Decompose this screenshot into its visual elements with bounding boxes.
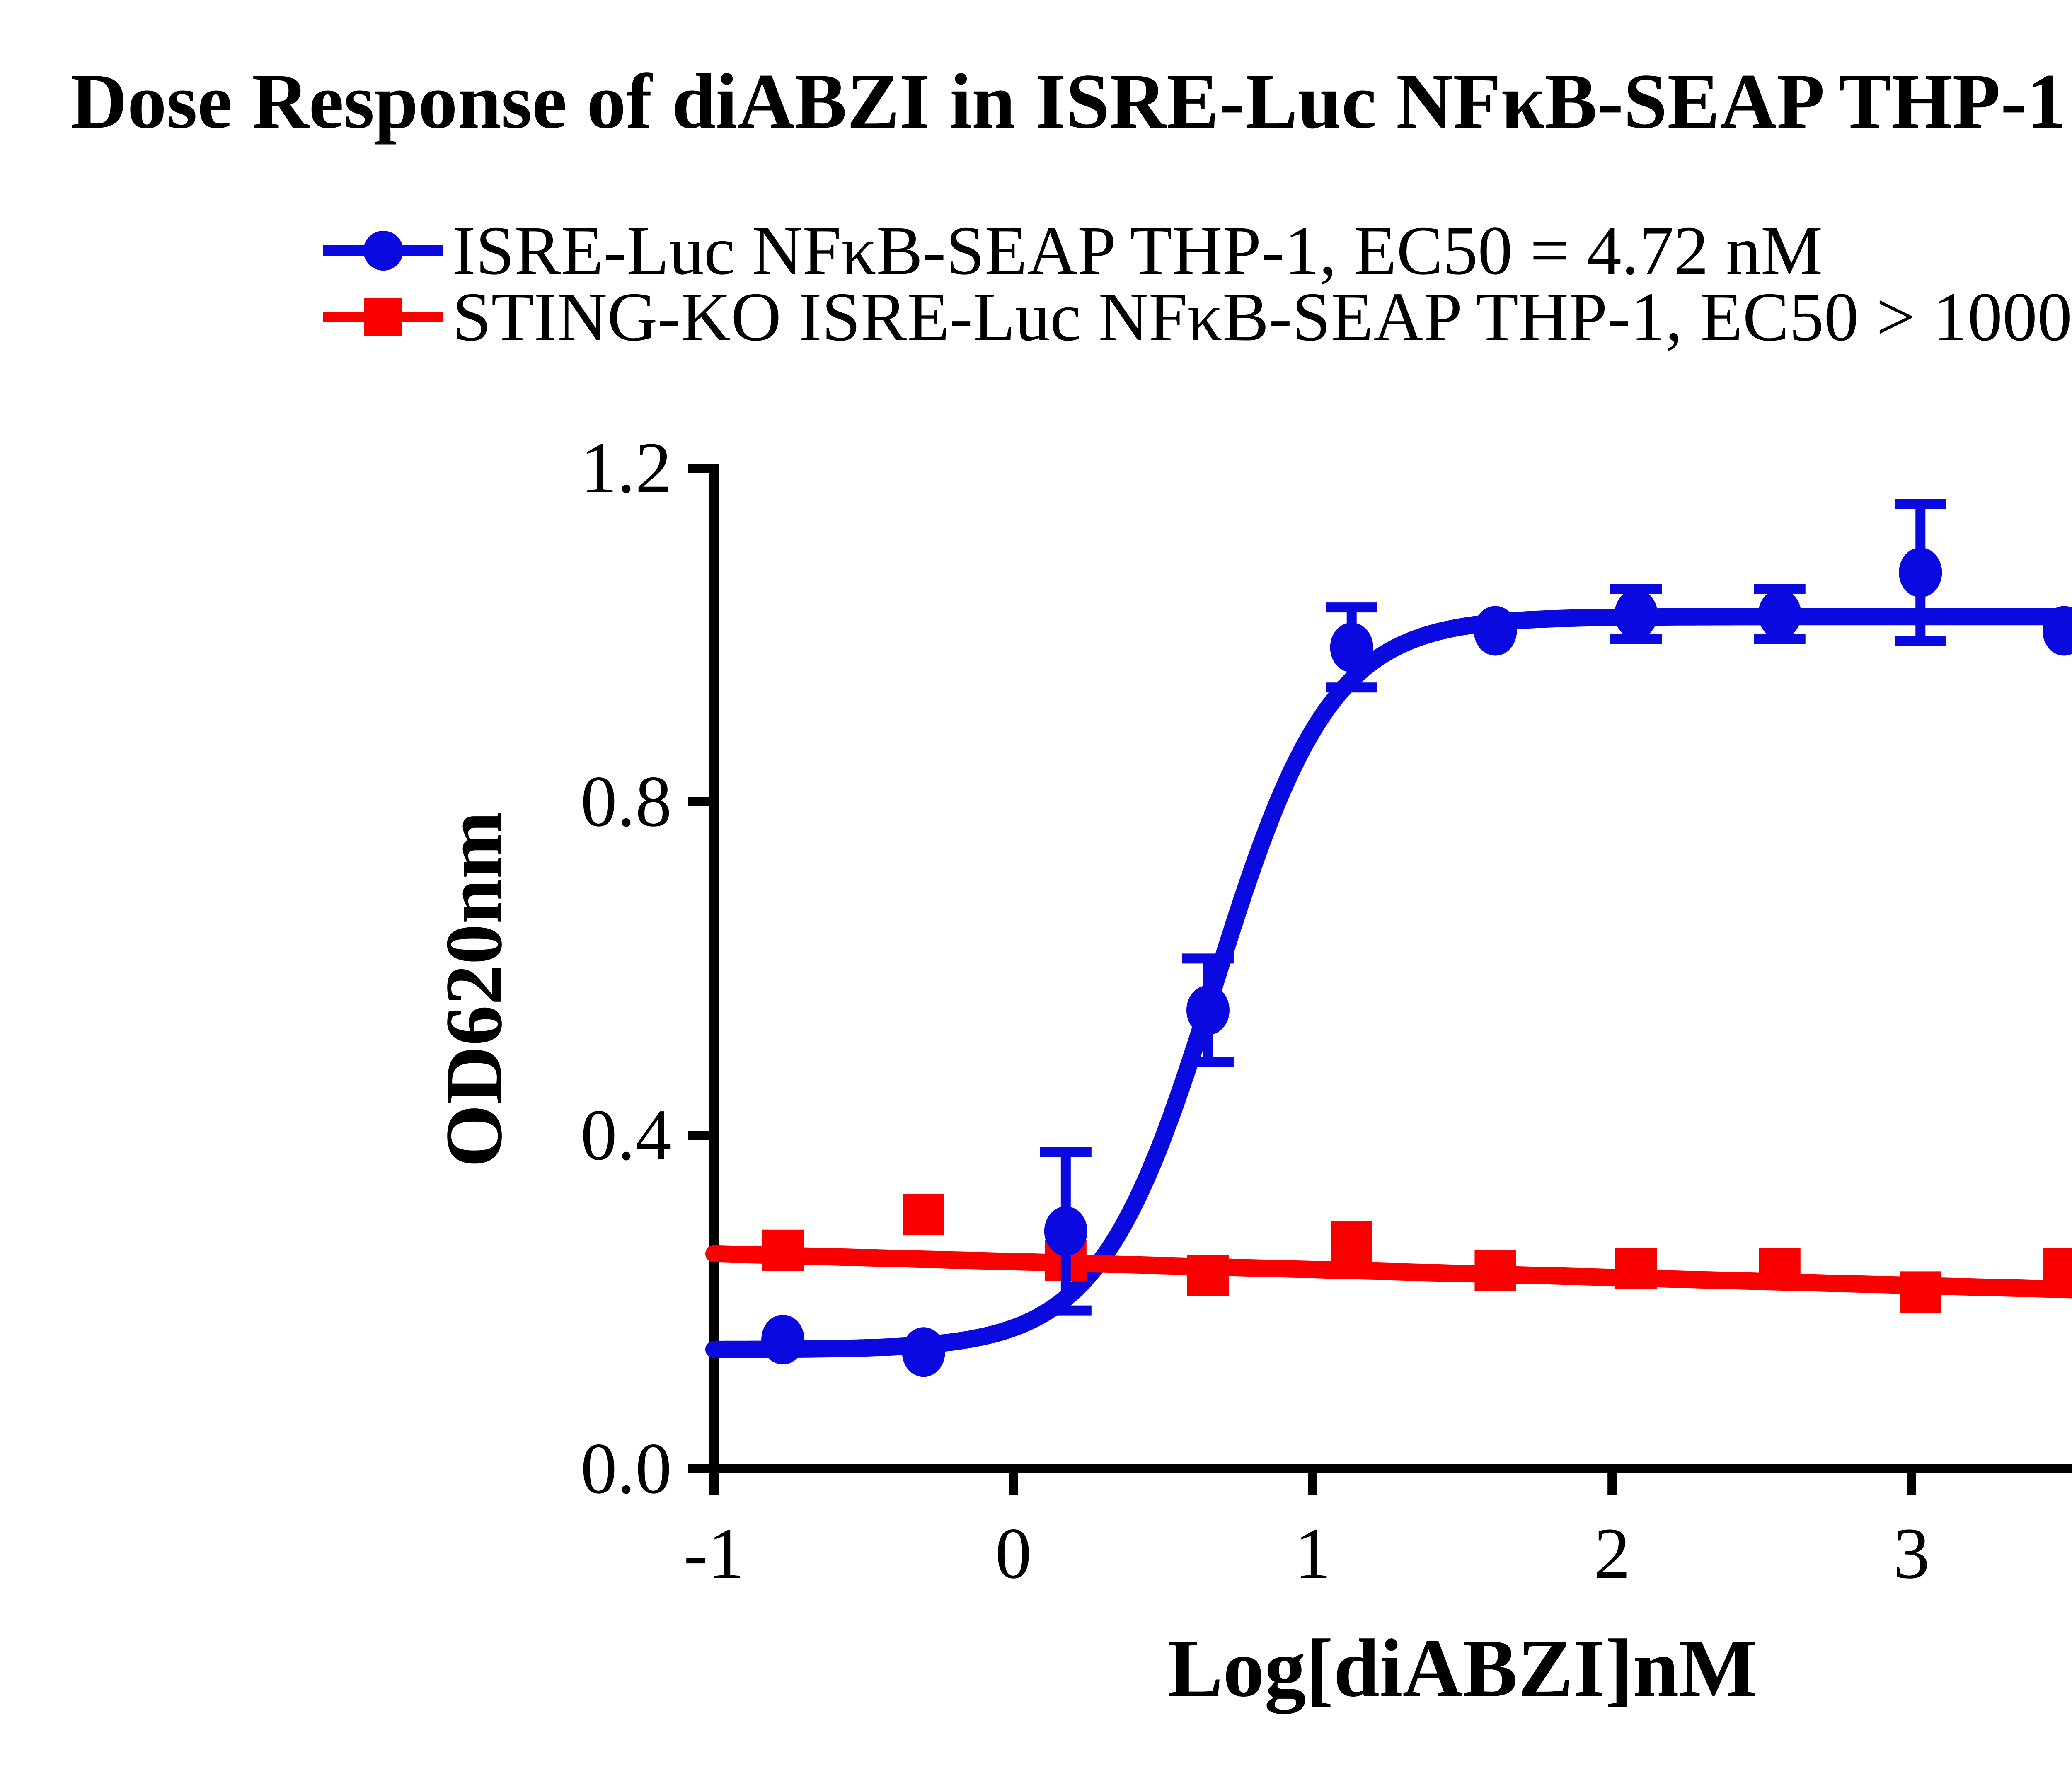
- x-tick-label: -1: [684, 1517, 745, 1590]
- y-axis-title: OD620nm: [427, 811, 520, 1167]
- y-tick-label: 0.0: [473, 1432, 672, 1505]
- figure-canvas: Dose Response of diABZI in ISRE-Luc NFκB…: [0, 0, 2072, 1780]
- x-tick-label: 1: [1295, 1517, 1331, 1590]
- x-tick-label: 0: [995, 1517, 1031, 1590]
- y-tick-label: 1.2: [473, 432, 672, 505]
- x-tick-label: 2: [1594, 1517, 1630, 1590]
- x-tick-label: 3: [1893, 1517, 1930, 1590]
- plot-svg: [0, 0, 2072, 1780]
- x-axis-title: Log[diABZI]nM: [1168, 1621, 1757, 1716]
- plot-area: 0.0 0.4 0.8 1.2 -1 0 1 2 3 4 OD620nm Log…: [0, 0, 2072, 1780]
